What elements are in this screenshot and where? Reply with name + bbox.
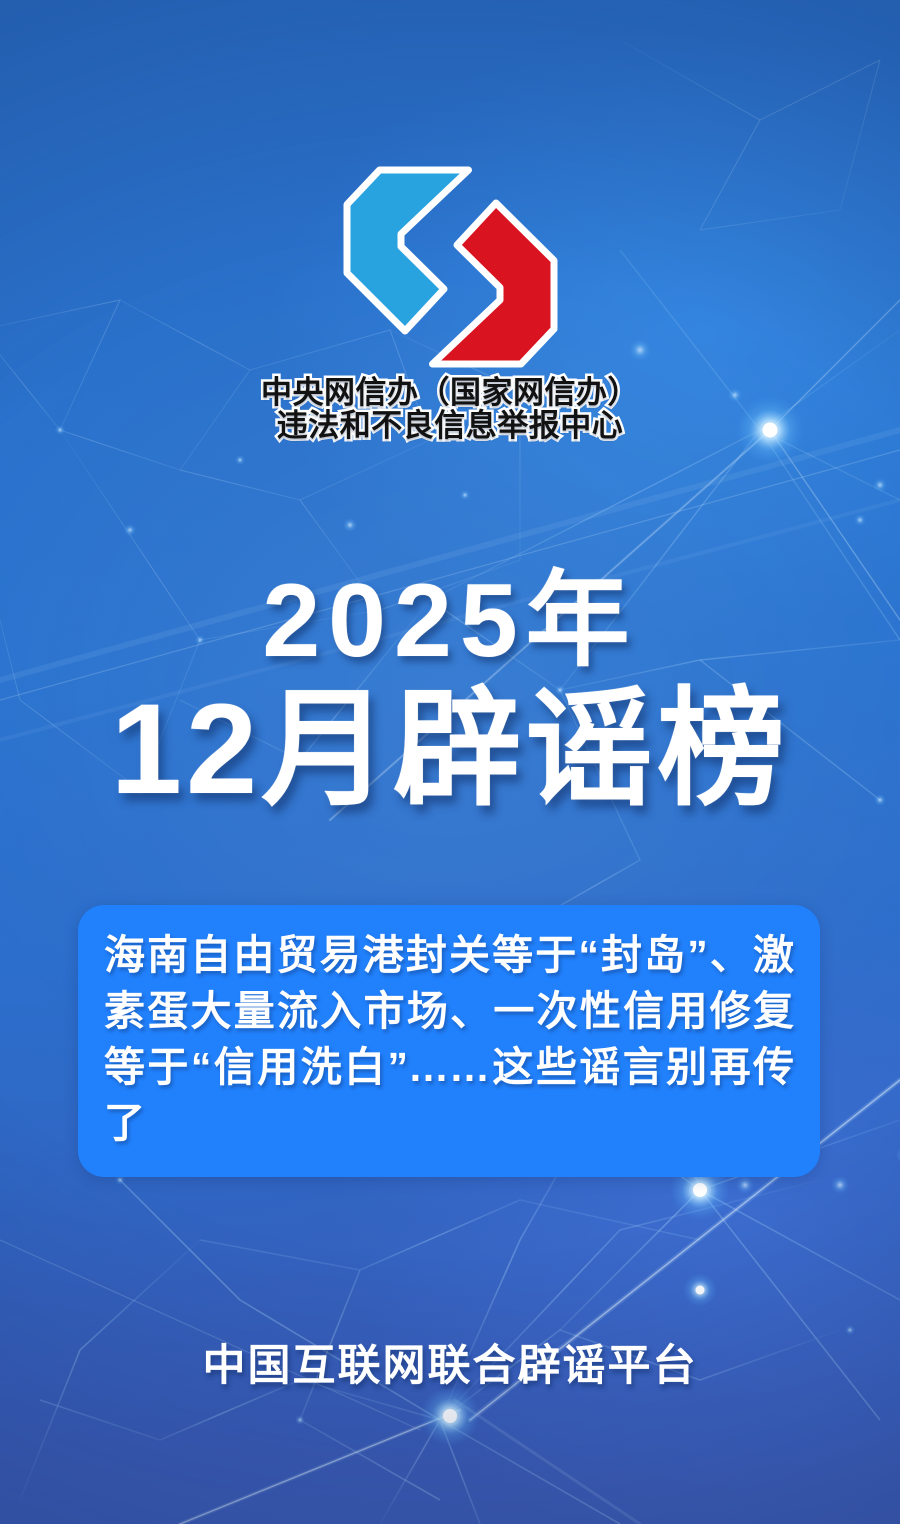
platform-name: 中国互联网联合辟谣平台	[203, 1340, 698, 1392]
organization-name-line2: 违法和不良信息举报中心	[261, 409, 639, 442]
summary-card: 海南自由贸易港封关等于“封岛”、激素蛋大量流入市场、一次性信用修复等于“信用洗白…	[78, 905, 820, 1177]
organization-name-line1: 中央网信办（国家网信办）	[261, 376, 639, 409]
rumor-debunk-poster: 中央网信办（国家网信办） 违法和不良信息举报中心 2025年 12月辟谣榜 海南…	[0, 0, 900, 1524]
network-node-group	[55, 339, 900, 1446]
footer-block: 中国互联网联合辟谣平台	[0, 1340, 900, 1392]
organization-name: 中央网信办（国家网信办） 违法和不良信息举报中心	[261, 376, 639, 442]
headline-block: 2025年 12月辟谣榜	[0, 566, 900, 818]
logo-block: 中央网信办（国家网信办） 违法和不良信息举报中心	[0, 166, 900, 442]
cac-report-center-logo-icon	[343, 166, 558, 368]
headline-month-title: 12月辟谣榜	[0, 682, 900, 818]
summary-text: 海南自由贸易港封关等于“封岛”、激素蛋大量流入市场、一次性信用修复等于“信用洗白…	[104, 927, 794, 1151]
headline-year: 2025年	[0, 566, 900, 676]
